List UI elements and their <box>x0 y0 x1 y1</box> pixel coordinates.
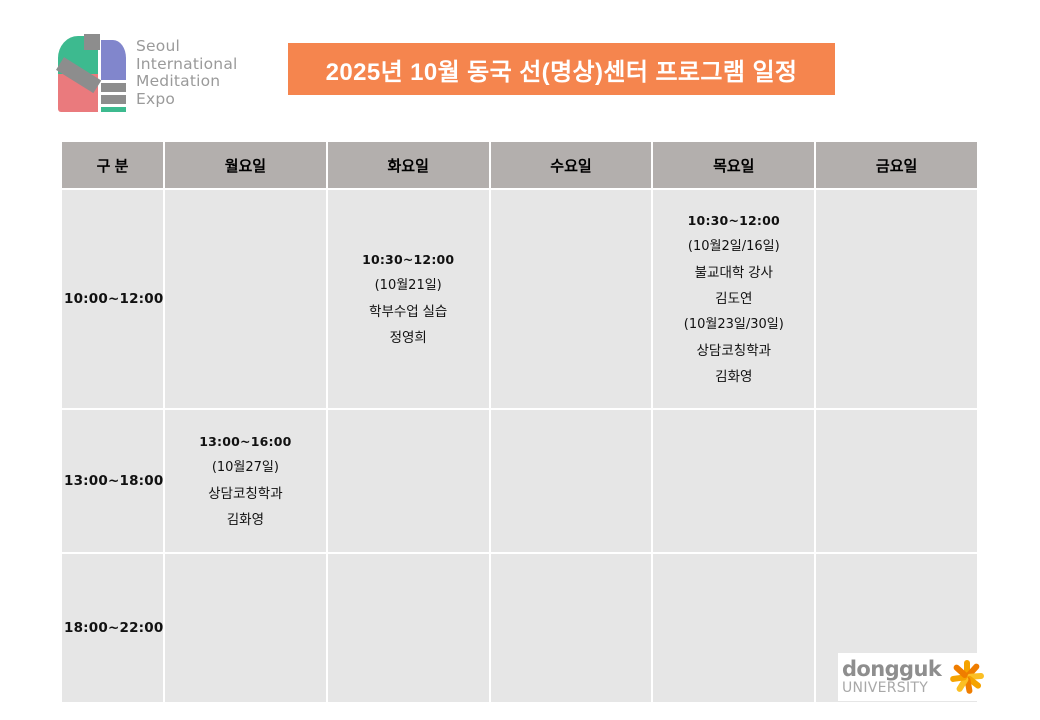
page-title: 2025년 10월 동국 선(명상)센터 프로그램 일정 <box>326 52 798 87</box>
schedule-cell-friday <box>816 410 977 552</box>
schedule-cell-wednesday <box>491 190 652 408</box>
schedule-cell-thursday <box>653 554 814 702</box>
column-header-monday: 월요일 <box>165 142 326 188</box>
expo-logo-text: Seoul International Meditation Expo <box>136 38 238 108</box>
schedule-cell-tuesday[interactable]: 10:30~12:00(10월21일)학부수업 실습정영희 <box>328 190 489 408</box>
time-slot-label: 13:00~18:00 <box>62 410 163 552</box>
event-line: 10:30~12:00 <box>330 247 487 273</box>
event-line: 상담코칭학과 <box>655 338 812 364</box>
event-line: 학부수업 실습 <box>330 299 487 325</box>
table-header-row: 구 분 월요일 화요일 수요일 목요일 금요일 <box>62 142 977 188</box>
event-line: 13:00~16:00 <box>167 429 324 455</box>
column-header-friday: 금요일 <box>816 142 977 188</box>
event-line: (10월2일/16일) <box>655 234 812 260</box>
dongguk-name-text: dongguk <box>842 659 941 680</box>
column-header-division: 구 분 <box>62 142 163 188</box>
schedule-cell-thursday[interactable]: 10:30~12:00(10월2일/16일)불교대학 강사김도연(10월23일/… <box>653 190 814 408</box>
column-header-wednesday: 수요일 <box>491 142 652 188</box>
dongguk-subtitle-text: UNIVERSITY <box>842 681 941 695</box>
schedule-cell-tuesday <box>328 554 489 702</box>
dongguk-wordmark: dongguk UNIVERSITY <box>842 659 941 695</box>
event-line: 불교대학 강사 <box>655 260 812 286</box>
dongguk-starburst-icon <box>945 656 987 698</box>
program-schedule-table: 구 분 월요일 화요일 수요일 목요일 금요일 10:00~12:0010:30… <box>60 140 979 704</box>
schedule-cell-monday <box>165 554 326 702</box>
expo-logo-mark-icon <box>58 34 126 112</box>
event-line: 상담코칭학과 <box>167 481 324 507</box>
time-slot-label: 10:00~12:00 <box>62 190 163 408</box>
event-line: 정영희 <box>330 325 487 351</box>
seoul-international-meditation-expo-logo: Seoul International Meditation Expo <box>58 28 288 118</box>
event-line: 김화영 <box>655 364 812 390</box>
schedule-cell-monday <box>165 190 326 408</box>
column-header-tuesday: 화요일 <box>328 142 489 188</box>
schedule-cell-thursday <box>653 410 814 552</box>
schedule-cell-tuesday <box>328 410 489 552</box>
event-line: 김도연 <box>655 286 812 312</box>
time-slot-label: 18:00~22:00 <box>62 554 163 702</box>
dongguk-university-logo: dongguk UNIVERSITY <box>838 653 980 701</box>
schedule-cell-wednesday <box>491 554 652 702</box>
title-banner: 2025년 10월 동국 선(명상)센터 프로그램 일정 <box>288 43 835 95</box>
column-header-thursday: 목요일 <box>653 142 814 188</box>
event-line: 김화영 <box>167 507 324 533</box>
table-body: 10:00~12:0010:30~12:00(10월21일)학부수업 실습정영희… <box>62 190 977 702</box>
schedule-cell-friday <box>816 190 977 408</box>
event-line: (10월21일) <box>330 273 487 299</box>
schedule-cell-monday[interactable]: 13:00~16:00(10월27일)상담코칭학과김화영 <box>165 410 326 552</box>
page-header: Seoul International Meditation Expo 2025… <box>0 0 1040 135</box>
schedule-cell-wednesday <box>491 410 652 552</box>
event-line: (10월27일) <box>167 455 324 481</box>
table-row: 10:00~12:0010:30~12:00(10월21일)학부수업 실습정영희… <box>62 190 977 408</box>
event-line: 10:30~12:00 <box>655 208 812 234</box>
event-line: (10월23일/30일) <box>655 312 812 338</box>
table-row: 13:00~18:0013:00~16:00(10월27일)상담코칭학과김화영 <box>62 410 977 552</box>
